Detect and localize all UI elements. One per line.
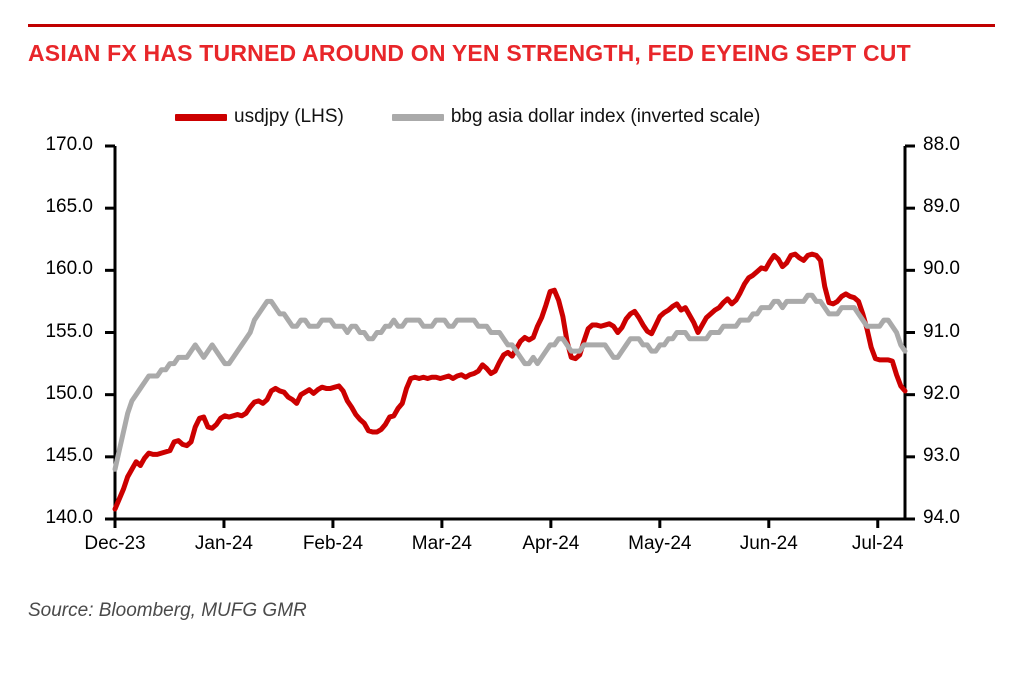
legend-item-bbg-asia-dollar-index: bbg asia dollar index (inverted scale) [392,106,760,128]
y-axis-left-tick-label: 170.0 [7,134,93,156]
y-axis-left-tick-label: 145.0 [7,445,93,467]
x-axis-tick-label: Mar-24 [387,533,497,555]
chart-legend: usdjpy (LHS) bbg asia dollar index (inve… [175,106,760,128]
y-axis-left-tick-label: 140.0 [7,507,93,529]
y-axis-right-tick-label: 90.0 [923,258,1009,280]
page-title: ASIAN FX HAS TURNED AROUND ON YEN STRENG… [28,40,1003,67]
line-chart-plot [0,0,1022,690]
series-line-usdjpy [115,254,905,509]
x-axis-tick-label: Apr-24 [496,533,606,555]
legend-label-bbg-asia-dollar-index: bbg asia dollar index (inverted scale) [451,106,760,128]
x-axis-tick-label: Dec-23 [60,533,170,555]
y-axis-right-tick-label: 93.0 [923,445,1009,467]
legend-item-usdjpy: usdjpy (LHS) [175,106,344,128]
source-note: Source: Bloomberg, MUFG GMR [28,600,307,622]
legend-label-usdjpy: usdjpy (LHS) [234,106,344,128]
y-axis-left-tick-label: 150.0 [7,383,93,405]
x-axis-tick-label: Jan-24 [169,533,279,555]
y-axis-right-tick-label: 88.0 [923,134,1009,156]
y-axis-right-tick-label: 91.0 [923,321,1009,343]
y-axis-right-tick-label: 89.0 [923,196,1009,218]
x-axis-tick-label: Jul-24 [823,533,933,555]
legend-swatch-usdjpy [175,114,227,121]
y-axis-left-tick-label: 155.0 [7,321,93,343]
series-line-bbg-asia-dollar-index [115,295,905,469]
y-axis-left-tick-label: 165.0 [7,196,93,218]
title-divider-rule [28,24,995,27]
chart-page: ASIAN FX HAS TURNED AROUND ON YEN STRENG… [0,0,1022,690]
y-axis-right-tick-label: 92.0 [923,383,1009,405]
x-axis-tick-label: May-24 [605,533,715,555]
legend-swatch-bbg-asia-dollar-index [392,114,444,121]
x-axis-tick-label: Jun-24 [714,533,824,555]
y-axis-right-tick-label: 94.0 [923,507,1009,529]
x-axis-tick-label: Feb-24 [278,533,388,555]
y-axis-left-tick-label: 160.0 [7,258,93,280]
